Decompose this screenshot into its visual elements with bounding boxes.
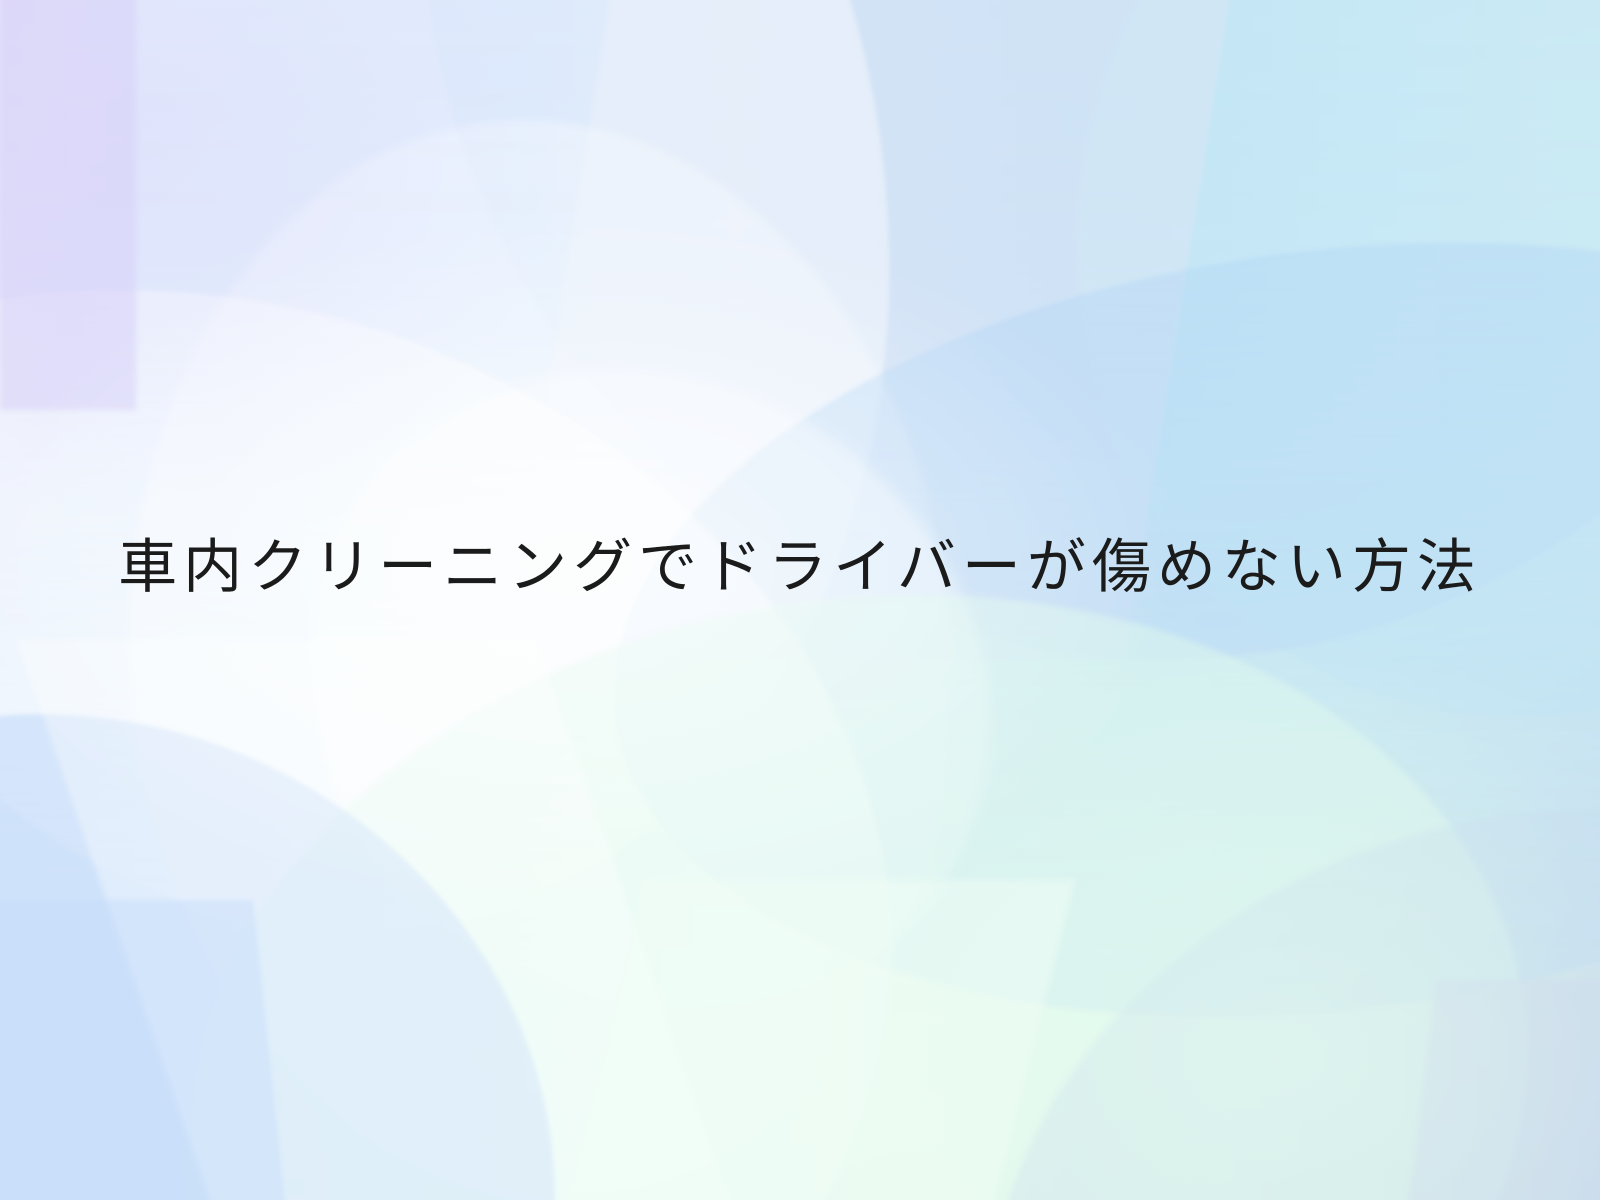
slide-title: 車内クリーニングでドライバーが傷めない方法 <box>118 530 1482 606</box>
title-layer: 車内クリーニングでドライバーが傷めない方法 <box>0 0 1600 1200</box>
presentation-slide: 車内クリーニングでドライバーが傷めない方法 <box>0 0 1600 1200</box>
